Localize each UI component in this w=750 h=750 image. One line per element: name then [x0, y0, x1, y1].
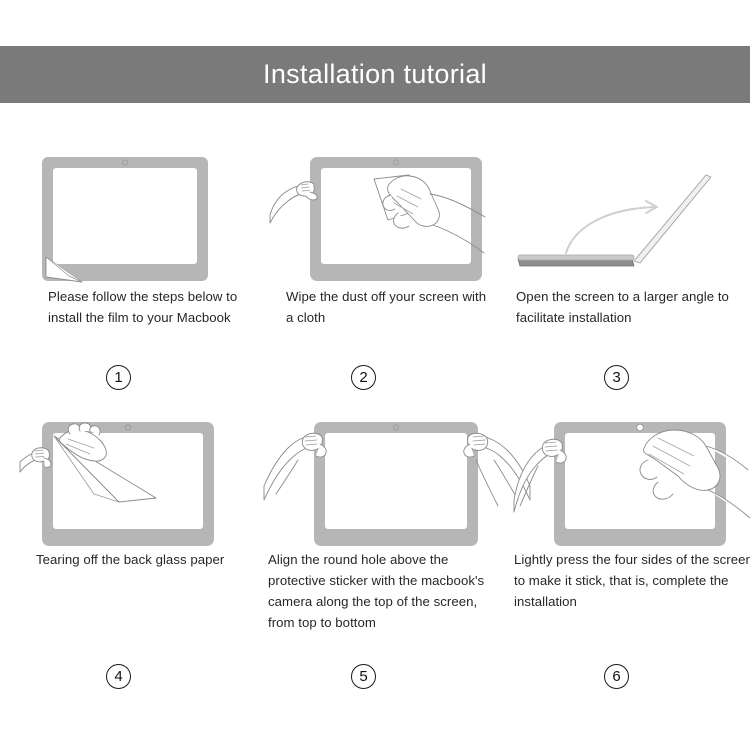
tutorial-steps-grid: Please follow the steps below to install…: [0, 103, 750, 750]
step-caption: Lightly press the four sides of the scre…: [514, 549, 750, 612]
hand-tearing-back-paper-icon: [24, 416, 274, 566]
page-title: Installation tutorial: [263, 61, 487, 88]
header-banner: Installation tutorial: [0, 46, 750, 103]
tutorial-step-1: Please follow the steps below to install…: [0, 103, 250, 403]
step-caption: Wipe the dust off your screen with a clo…: [286, 286, 496, 328]
two-hands-aligning-film-icon: [270, 416, 520, 566]
laptop-opening-angle-arrow-icon: [506, 151, 750, 301]
step-caption: Open the screen to a larger angle to fac…: [516, 286, 736, 328]
step-number-badge: 6: [604, 664, 629, 689]
tutorial-step-4: Tearing off the back glass paper 4: [0, 403, 250, 750]
tutorial-step-2: Wipe the dust off your screen with a clo…: [250, 103, 500, 403]
step-number-badge: 4: [106, 664, 131, 689]
hand-wiping-screen-with-cloth-icon: [270, 151, 520, 301]
step-number-badge: 1: [106, 365, 131, 390]
screen-with-peeling-film-corner-icon: [24, 151, 274, 301]
step-caption: Align the round hole above the protectiv…: [268, 549, 498, 633]
tutorial-step-6: Lightly press the four sides of the scre…: [500, 403, 750, 750]
tutorial-step-5: Align the round hole above the protectiv…: [250, 403, 500, 750]
step-number-badge: 3: [604, 365, 629, 390]
step-number-badge: 2: [351, 365, 376, 390]
step-caption: Please follow the steps below to install…: [48, 286, 248, 328]
tutorial-step-3: Open the screen to a larger angle to fac…: [500, 103, 750, 403]
step-caption: Tearing off the back glass paper: [36, 549, 246, 570]
step-number-badge: 5: [351, 664, 376, 689]
hands-pressing-film-edges-icon: [518, 416, 750, 566]
